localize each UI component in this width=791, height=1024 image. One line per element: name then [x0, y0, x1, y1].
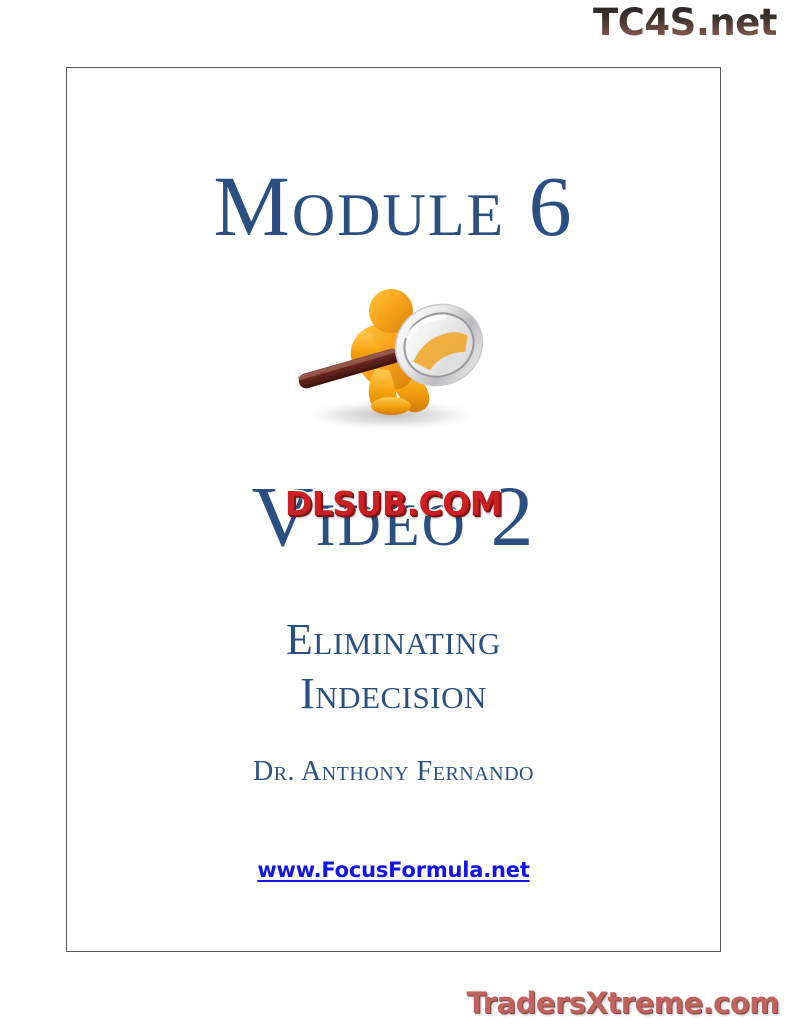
watermark-top-right: TC4S.net [593, 4, 777, 41]
cover-page-frame: Module 6 [66, 67, 721, 952]
video-title: Video 2 [67, 473, 720, 559]
module-title: Module 6 [67, 163, 720, 249]
subtitle-line-2: Indecision [67, 667, 720, 721]
person-with-magnifying-glass-icon [279, 273, 509, 438]
website-link-row: www.FocusFormula.net [67, 858, 720, 882]
website-link[interactable]: www.FocusFormula.net [257, 858, 529, 882]
cover-illustration [67, 273, 720, 438]
watermark-bottom-right: TradersXtreme.com [467, 989, 779, 1018]
subtitle-line-1: Eliminating [67, 613, 720, 667]
video-title-block: Video 2 DLSUB.COM [67, 473, 720, 583]
author-name: Dr. Anthony Fernando [67, 758, 720, 786]
cover-subtitle: Eliminating Indecision [67, 613, 720, 721]
